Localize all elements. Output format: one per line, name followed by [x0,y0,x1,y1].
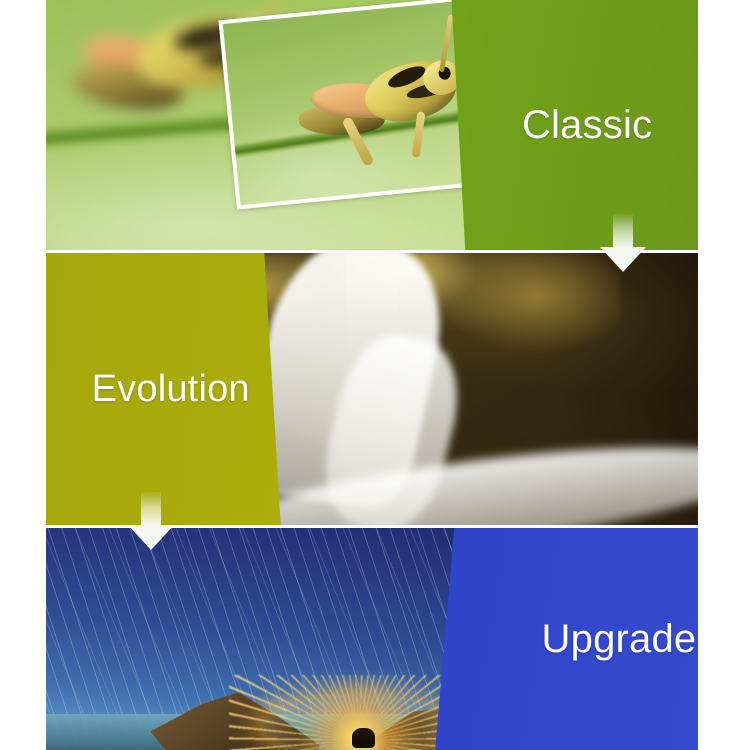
wedge-classic: Classic [424,0,698,250]
panel-label-evolution: Evolution [92,370,250,408]
wedge-evolution: Evolution [46,253,281,525]
panel-classic[interactable]: Classic [46,0,698,250]
panel-label-upgrade: Upgrade [542,619,697,659]
wedge-upgrade: Upgrade [424,528,698,750]
panel-upgrade[interactable]: Upgrade [46,528,698,750]
panel-label-classic: Classic [522,105,652,145]
panel-evolution[interactable]: Evolution [46,253,698,525]
feature-panels-stage: Classic Evolution U [0,0,750,750]
person-silhouette [352,728,374,748]
grasshopper-sharp [290,52,480,179]
